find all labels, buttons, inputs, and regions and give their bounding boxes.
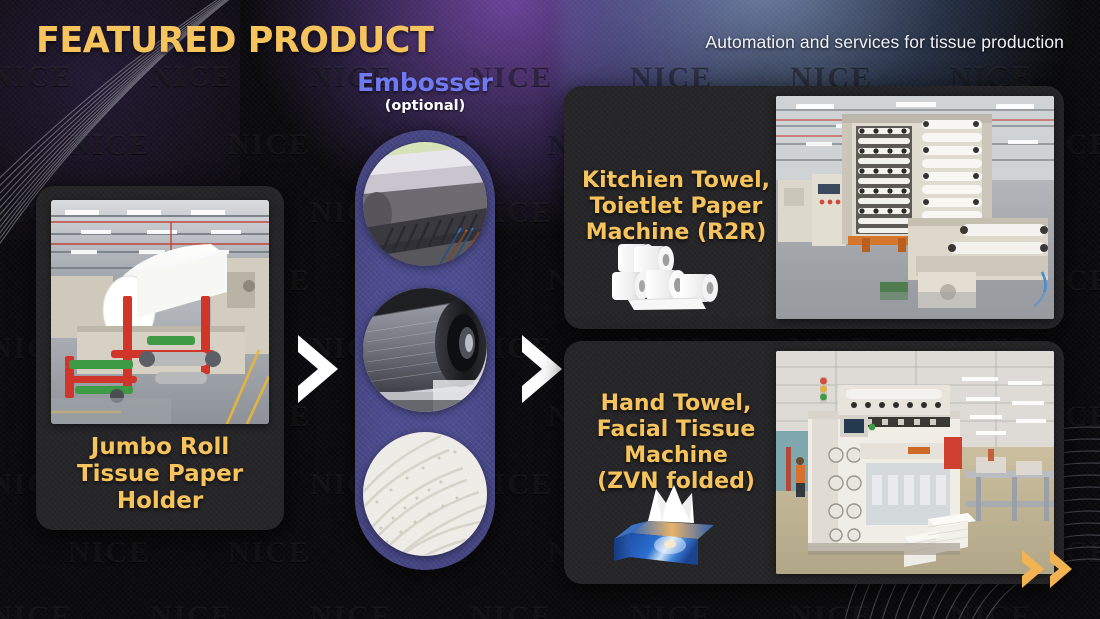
caption-line: Toietlet Paper bbox=[576, 194, 776, 220]
caption-line: Kitchien Towel, bbox=[576, 168, 776, 194]
page-title: FEATURED PRODUCT bbox=[36, 20, 433, 61]
embosser-capsule[interactable] bbox=[355, 130, 495, 570]
card-jumbo-roll[interactable]: Jumbo Roll Tissue Paper Holder bbox=[36, 186, 284, 530]
embosser-title: Embosser bbox=[305, 68, 545, 97]
toilet-paper-rolls-icon bbox=[604, 236, 728, 316]
r2r-rewinder-machine-photo bbox=[776, 96, 1054, 319]
next-double-chevron-icon[interactable] bbox=[1018, 545, 1080, 593]
embosser-subtitle: (optional) bbox=[305, 98, 545, 114]
tagline: Automation and services for tissue produ… bbox=[705, 32, 1064, 53]
watermark-text: NICE bbox=[310, 600, 393, 619]
caption-line: Hand Towel, bbox=[576, 391, 776, 417]
watermark-text: NICE bbox=[630, 600, 713, 619]
embosser-label-group: Embosser (optional) bbox=[305, 68, 545, 114]
card-zvn-caption: Hand Towel, Facial Tissue Machine (ZVN f… bbox=[576, 391, 776, 495]
watermark-text: NICE bbox=[470, 600, 553, 619]
steel-embossing-roll-photo bbox=[363, 288, 487, 412]
caption-line: Tissue Paper bbox=[44, 461, 276, 488]
watermark-text: NICE bbox=[0, 600, 73, 619]
caption-line: Jumbo Roll bbox=[44, 434, 276, 461]
watermark-text: NICE bbox=[68, 128, 151, 162]
flow-chevron-1-icon bbox=[292, 332, 344, 406]
card-r2r-caption: Kitchien Towel, Toietlet Paper Machine (… bbox=[576, 168, 776, 246]
slide-canvas: NICENICENICENICENICENICENICENICENICENICE… bbox=[0, 0, 1100, 619]
watermark-text: NICE bbox=[0, 60, 73, 94]
zvn-folding-machine-photo bbox=[776, 351, 1054, 574]
watermark-text: NICE bbox=[68, 536, 151, 570]
watermark-text: NICE bbox=[228, 536, 311, 570]
card-zvn-machine[interactable]: Hand Towel, Facial Tissue Machine (ZVN f… bbox=[564, 341, 1064, 584]
embossed-tissue-pattern-photo bbox=[363, 432, 487, 556]
facial-tissue-box-icon bbox=[608, 481, 728, 569]
caption-line: Facial Tissue bbox=[576, 417, 776, 443]
card-jumbo-caption: Jumbo Roll Tissue Paper Holder bbox=[44, 434, 276, 515]
caption-line: Machine bbox=[576, 443, 776, 469]
jumbo-roll-machine-photo bbox=[51, 200, 269, 424]
card-r2r-machine[interactable]: Kitchien Towel, Toietlet Paper Machine (… bbox=[564, 86, 1064, 329]
caption-line: Holder bbox=[44, 488, 276, 515]
watermark-text: NICE bbox=[228, 128, 311, 162]
watermark-text: NICE bbox=[950, 600, 1033, 619]
watermark-text: NICE bbox=[790, 600, 873, 619]
watermark-text: NICE bbox=[150, 600, 233, 619]
watermark-text: NICE bbox=[150, 60, 233, 94]
embossing-rollers-photo bbox=[363, 142, 487, 266]
flow-chevron-2-icon bbox=[516, 332, 568, 406]
